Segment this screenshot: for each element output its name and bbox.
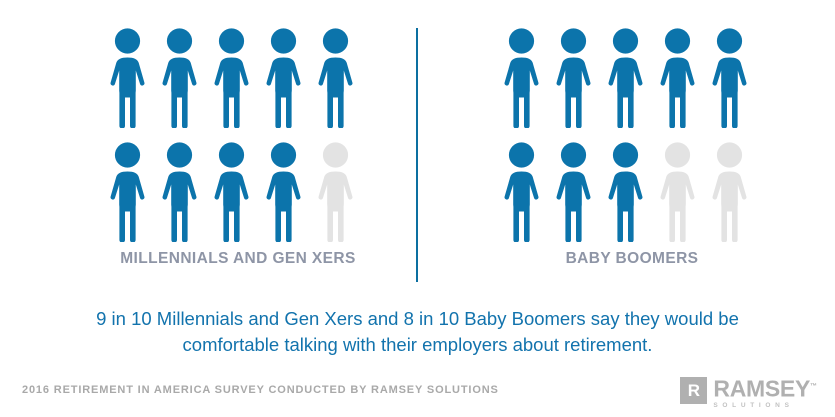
person-icon-empty — [710, 142, 749, 242]
person-icon-filled — [264, 28, 303, 128]
panel-label-millennials: MILLENNIALS AND GEN XERS — [58, 250, 418, 268]
logo-wordmark-text: RAMSEY — [713, 376, 810, 402]
person-icon-filled — [606, 28, 645, 128]
person-icon-filled — [554, 142, 593, 242]
caption-line-2: comfortable talking with their employers… — [70, 332, 765, 358]
person-icon-filled — [606, 142, 645, 242]
panel-millennials-gen-xers: MILLENNIALS AND GEN XERS — [58, 22, 418, 284]
person-icon-filled — [710, 28, 749, 128]
person-icon-empty — [316, 142, 355, 242]
logo-wordmark: RAMSEY™ — [713, 376, 817, 400]
logo-subtitle: SOLUTIONS — [713, 401, 817, 410]
person-icon-filled — [316, 28, 355, 128]
person-icon-filled — [160, 142, 199, 242]
person-icon-filled — [212, 28, 251, 128]
icon-row-right-1 — [502, 28, 762, 128]
panel-label-baby-boomers: BABY BOOMERS — [452, 250, 812, 268]
source-note: 2016 RETIREMENT IN AMERICA SURVEY CONDUC… — [22, 384, 499, 396]
panel-divider — [416, 28, 418, 282]
person-icon-filled — [108, 142, 147, 242]
person-icon-empty — [658, 142, 697, 242]
person-icon-filled — [108, 28, 147, 128]
person-icon-filled — [658, 28, 697, 128]
icon-row-left-1 — [108, 28, 368, 128]
caption: 9 in 10 Millennials and Gen Xers and 8 i… — [70, 306, 765, 358]
infographic-root: MILLENNIALS AND GEN XERS — [0, 0, 835, 417]
panel-baby-boomers: BABY BOOMERS — [452, 22, 812, 284]
person-icon-filled — [212, 142, 251, 242]
logo-text: RAMSEY™ SOLUTIONS — [713, 376, 817, 410]
icon-row-right-2 — [502, 142, 762, 242]
pictogram-panels: MILLENNIALS AND GEN XERS — [0, 0, 835, 290]
person-icon-filled — [502, 28, 541, 128]
person-icon-filled — [160, 28, 199, 128]
icon-grid-left — [108, 22, 368, 238]
icon-grid-right — [502, 22, 762, 238]
icon-row-left-2 — [108, 142, 368, 242]
trademark-icon: ™ — [810, 383, 817, 390]
caption-line-1: 9 in 10 Millennials and Gen Xers and 8 i… — [70, 306, 765, 332]
person-icon-filled — [502, 142, 541, 242]
person-icon-filled — [554, 28, 593, 128]
ramsey-logo-mark-icon: R — [680, 377, 707, 404]
person-icon-filled — [264, 142, 303, 242]
ramsey-solutions-logo: R RAMSEY™ SOLUTIONS — [680, 377, 817, 407]
